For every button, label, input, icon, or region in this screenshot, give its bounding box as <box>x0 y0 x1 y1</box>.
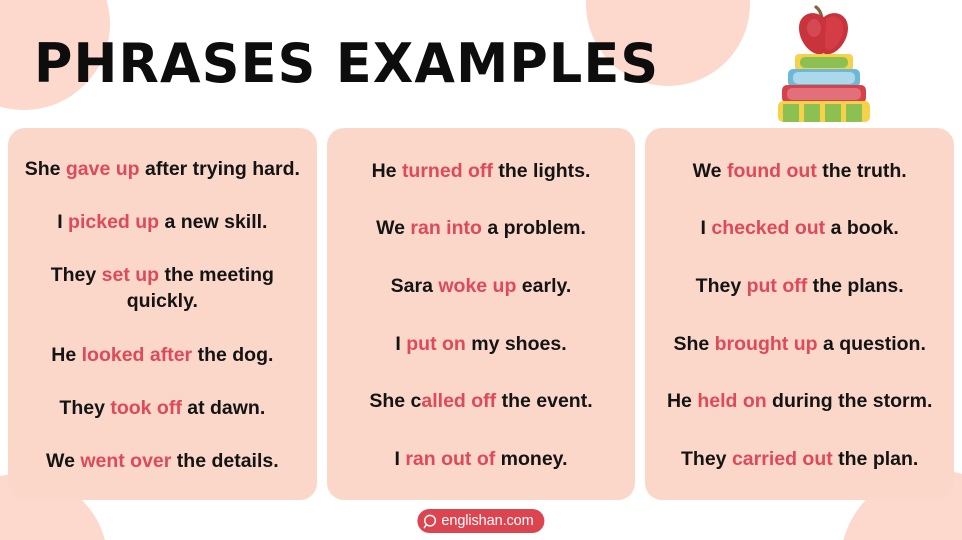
apple-on-books-illustration <box>764 4 884 122</box>
phrase-suffix: the dog. <box>192 344 273 366</box>
phrase-prefix: Sara <box>391 275 439 297</box>
site-url: englishan.com <box>441 514 533 529</box>
phrase-card-2: He turned off the lights.We ran into a p… <box>327 128 636 500</box>
phrase-prefix: I <box>701 217 712 239</box>
phrase-line: We went over the details. <box>18 448 307 474</box>
phrase-suffix: during the storm. <box>767 390 933 412</box>
phrase-line: He turned off the lights. <box>337 158 626 184</box>
phrasal-verb: ran into <box>410 217 482 239</box>
phrase-line: She brought up a question. <box>655 331 944 357</box>
phrase-line: She gave up after trying hard. <box>18 156 307 182</box>
phrase-suffix: the truth. <box>817 160 907 182</box>
phrase-line: They carried out the plan. <box>655 446 944 472</box>
phrase-line: We found out the truth. <box>655 158 944 184</box>
phrase-prefix: We <box>376 217 410 239</box>
phrase-suffix: a question. <box>818 333 926 355</box>
phrase-prefix: She <box>673 333 714 355</box>
phrase-prefix: They <box>681 448 732 470</box>
phrase-prefix: They <box>696 275 747 297</box>
phrase-line: He held on during the storm. <box>655 388 944 414</box>
phrase-suffix: after trying hard. <box>140 158 300 180</box>
phrase-prefix: They <box>59 397 110 419</box>
phrasal-verb: put on <box>406 333 466 355</box>
phrase-suffix: the plan. <box>833 448 919 470</box>
poster-canvas: PHRASES EXAMPLES She g <box>0 0 962 540</box>
phrasal-verb: alled off <box>421 390 496 412</box>
phrase-suffix: the event. <box>496 390 592 412</box>
phrase-prefix: He <box>51 344 81 366</box>
phrase-card-1: She gave up after trying hard.I picked u… <box>8 128 317 500</box>
phrasal-verb: put off <box>747 275 808 297</box>
phrasal-verb: went over <box>80 450 171 472</box>
phrasal-verb: looked after <box>82 344 193 366</box>
phrase-line: I ran out of money. <box>337 446 626 472</box>
phrase-suffix: the details. <box>171 450 278 472</box>
phrasal-verb: woke up <box>438 275 516 297</box>
phrase-line: I picked up a new skill. <box>18 209 307 235</box>
phrase-suffix: at dawn. <box>182 397 265 419</box>
phrase-line: I checked out a book. <box>655 215 944 241</box>
phrase-line: Sara woke up early. <box>337 273 626 299</box>
phrase-suffix: the lights. <box>493 160 591 182</box>
phrase-prefix: They <box>51 264 102 286</box>
phrase-line: She called off the event. <box>337 388 626 414</box>
phrase-prefix: I <box>395 333 406 355</box>
phrasal-verb: gave up <box>66 158 140 180</box>
site-badge[interactable]: englishan.com <box>417 509 544 533</box>
phrase-prefix: She <box>25 158 66 180</box>
phrasal-verb: checked out <box>711 217 825 239</box>
phrase-prefix: I <box>57 211 68 233</box>
phrase-suffix: the plans. <box>807 275 903 297</box>
phrase-line: They took off at dawn. <box>18 395 307 421</box>
phrase-prefix: He <box>372 160 402 182</box>
phrase-suffix: a book. <box>825 217 899 239</box>
phrase-line: They set up the meeting quickly. <box>18 262 307 314</box>
phrasal-verb: brought up <box>715 333 818 355</box>
phrase-columns: She gave up after trying hard.I picked u… <box>8 128 954 500</box>
phrasal-verb: turned off <box>402 160 493 182</box>
phrasal-verb: ran out of <box>405 448 495 470</box>
phrase-line: They put off the plans. <box>655 273 944 299</box>
phrase-prefix: She c <box>369 390 421 412</box>
phrase-suffix: money. <box>495 448 567 470</box>
phrase-suffix: a new skill. <box>159 211 267 233</box>
phrasal-verb: took off <box>110 397 181 419</box>
phrase-prefix: We <box>46 450 80 472</box>
phrasal-verb: held on <box>697 390 766 412</box>
phrase-suffix: my shoes. <box>466 333 567 355</box>
page-title: PHRASES EXAMPLES <box>34 32 659 96</box>
phrase-prefix: He <box>667 390 697 412</box>
phrasal-verb: set up <box>102 264 159 286</box>
phrasal-verb: found out <box>727 160 817 182</box>
phrase-line: I put on my shoes. <box>337 331 626 357</box>
phrase-suffix: a problem. <box>482 217 586 239</box>
phrase-card-3: We found out the truth.I checked out a b… <box>645 128 954 500</box>
search-icon <box>422 513 439 530</box>
phrasal-verb: picked up <box>68 211 159 233</box>
phrase-line: We ran into a problem. <box>337 215 626 241</box>
phrase-suffix: early. <box>516 275 571 297</box>
phrase-prefix: I <box>395 448 406 470</box>
phrase-line: He looked after the dog. <box>18 342 307 368</box>
phrase-prefix: We <box>693 160 727 182</box>
phrasal-verb: carried out <box>732 448 833 470</box>
